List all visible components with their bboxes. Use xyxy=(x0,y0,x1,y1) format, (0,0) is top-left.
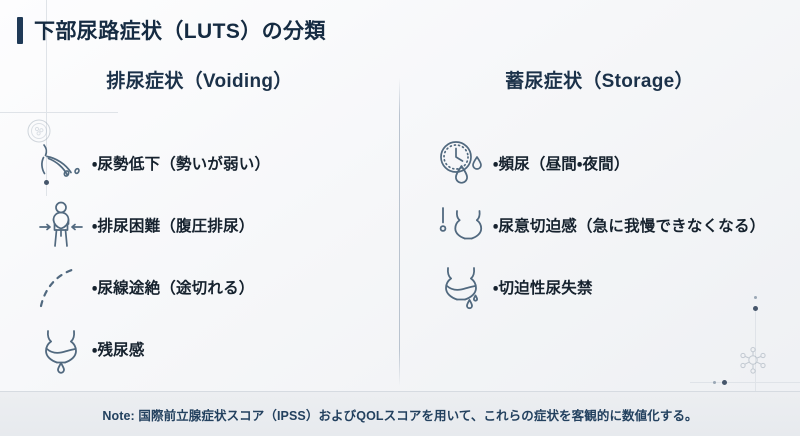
footer-note-text: Note: 国際前立腺症状スコア（IPSS）およびQOLスコアを用いて、これらの… xyxy=(102,405,697,424)
bladder-residual-icon xyxy=(30,320,92,378)
list-item[interactable]: ・尿意切迫感（急に我慢できなくなる） xyxy=(431,194,800,256)
list-item[interactable]: ・頻尿（昼間・夜間） xyxy=(431,132,800,194)
list-item-label: ・残尿感 xyxy=(92,338,145,360)
list-item[interactable]: ・切迫性尿失禁 xyxy=(431,256,800,318)
title-accent-bar xyxy=(17,17,23,44)
list-item[interactable]: ・排尿困難（腹圧排尿） xyxy=(30,194,399,256)
list-item[interactable]: ・尿勢低下（勢いが弱い） xyxy=(30,132,399,194)
column-storage: 蓄尿症状（Storage） ・頻尿（昼間・夜間） xyxy=(399,72,800,392)
page-title: 下部尿路症状（LUTS）の分類 xyxy=(17,15,326,45)
column-storage-heading: 蓄尿症状（Storage） xyxy=(431,72,800,98)
symptom-columns: 排尿症状（Voiding） ・尿勢低下（勢いが弱い） xyxy=(0,72,800,392)
voiding-symptom-list: ・尿勢低下（勢いが弱い） xyxy=(30,132,399,380)
list-item-label: ・頻尿（昼間・夜間） xyxy=(493,152,630,174)
weak-stream-icon xyxy=(30,134,92,192)
title-text: 下部尿路症状（LUTS）の分類 xyxy=(34,15,326,45)
list-item-label: ・尿意切迫感（急に我慢できなくなる） xyxy=(493,214,765,236)
intermittent-stream-icon xyxy=(30,258,92,316)
straining-person-icon xyxy=(30,196,92,254)
urgency-bladder-icon xyxy=(431,196,493,254)
slide-canvas: 下部尿路症状（LUTS）の分類 排尿症状（Voiding） xyxy=(0,0,800,436)
list-item[interactable]: ・残尿感 xyxy=(30,318,399,380)
footer-note-bar: Note: 国際前立腺症状スコア（IPSS）およびQOLスコアを用いて、これらの… xyxy=(0,391,800,436)
column-voiding-heading: 排尿症状（Voiding） xyxy=(30,72,399,98)
list-item[interactable]: ・尿線途絶（途切れる） xyxy=(30,256,399,318)
list-item-label: ・尿勢低下（勢いが弱い） xyxy=(92,152,270,174)
list-item-label: ・尿線途絶（途切れる） xyxy=(92,276,254,298)
storage-symptom-list: ・頻尿（昼間・夜間） ・尿意切迫感（ xyxy=(431,132,800,318)
leaking-bladder-icon xyxy=(431,258,493,316)
clock-drop-icon xyxy=(431,134,493,192)
list-item-label: ・排尿困難（腹圧排尿） xyxy=(92,214,254,236)
column-voiding: 排尿症状（Voiding） ・尿勢低下（勢いが弱い） xyxy=(0,72,399,392)
list-item-label: ・切迫性尿失禁 xyxy=(493,276,593,298)
